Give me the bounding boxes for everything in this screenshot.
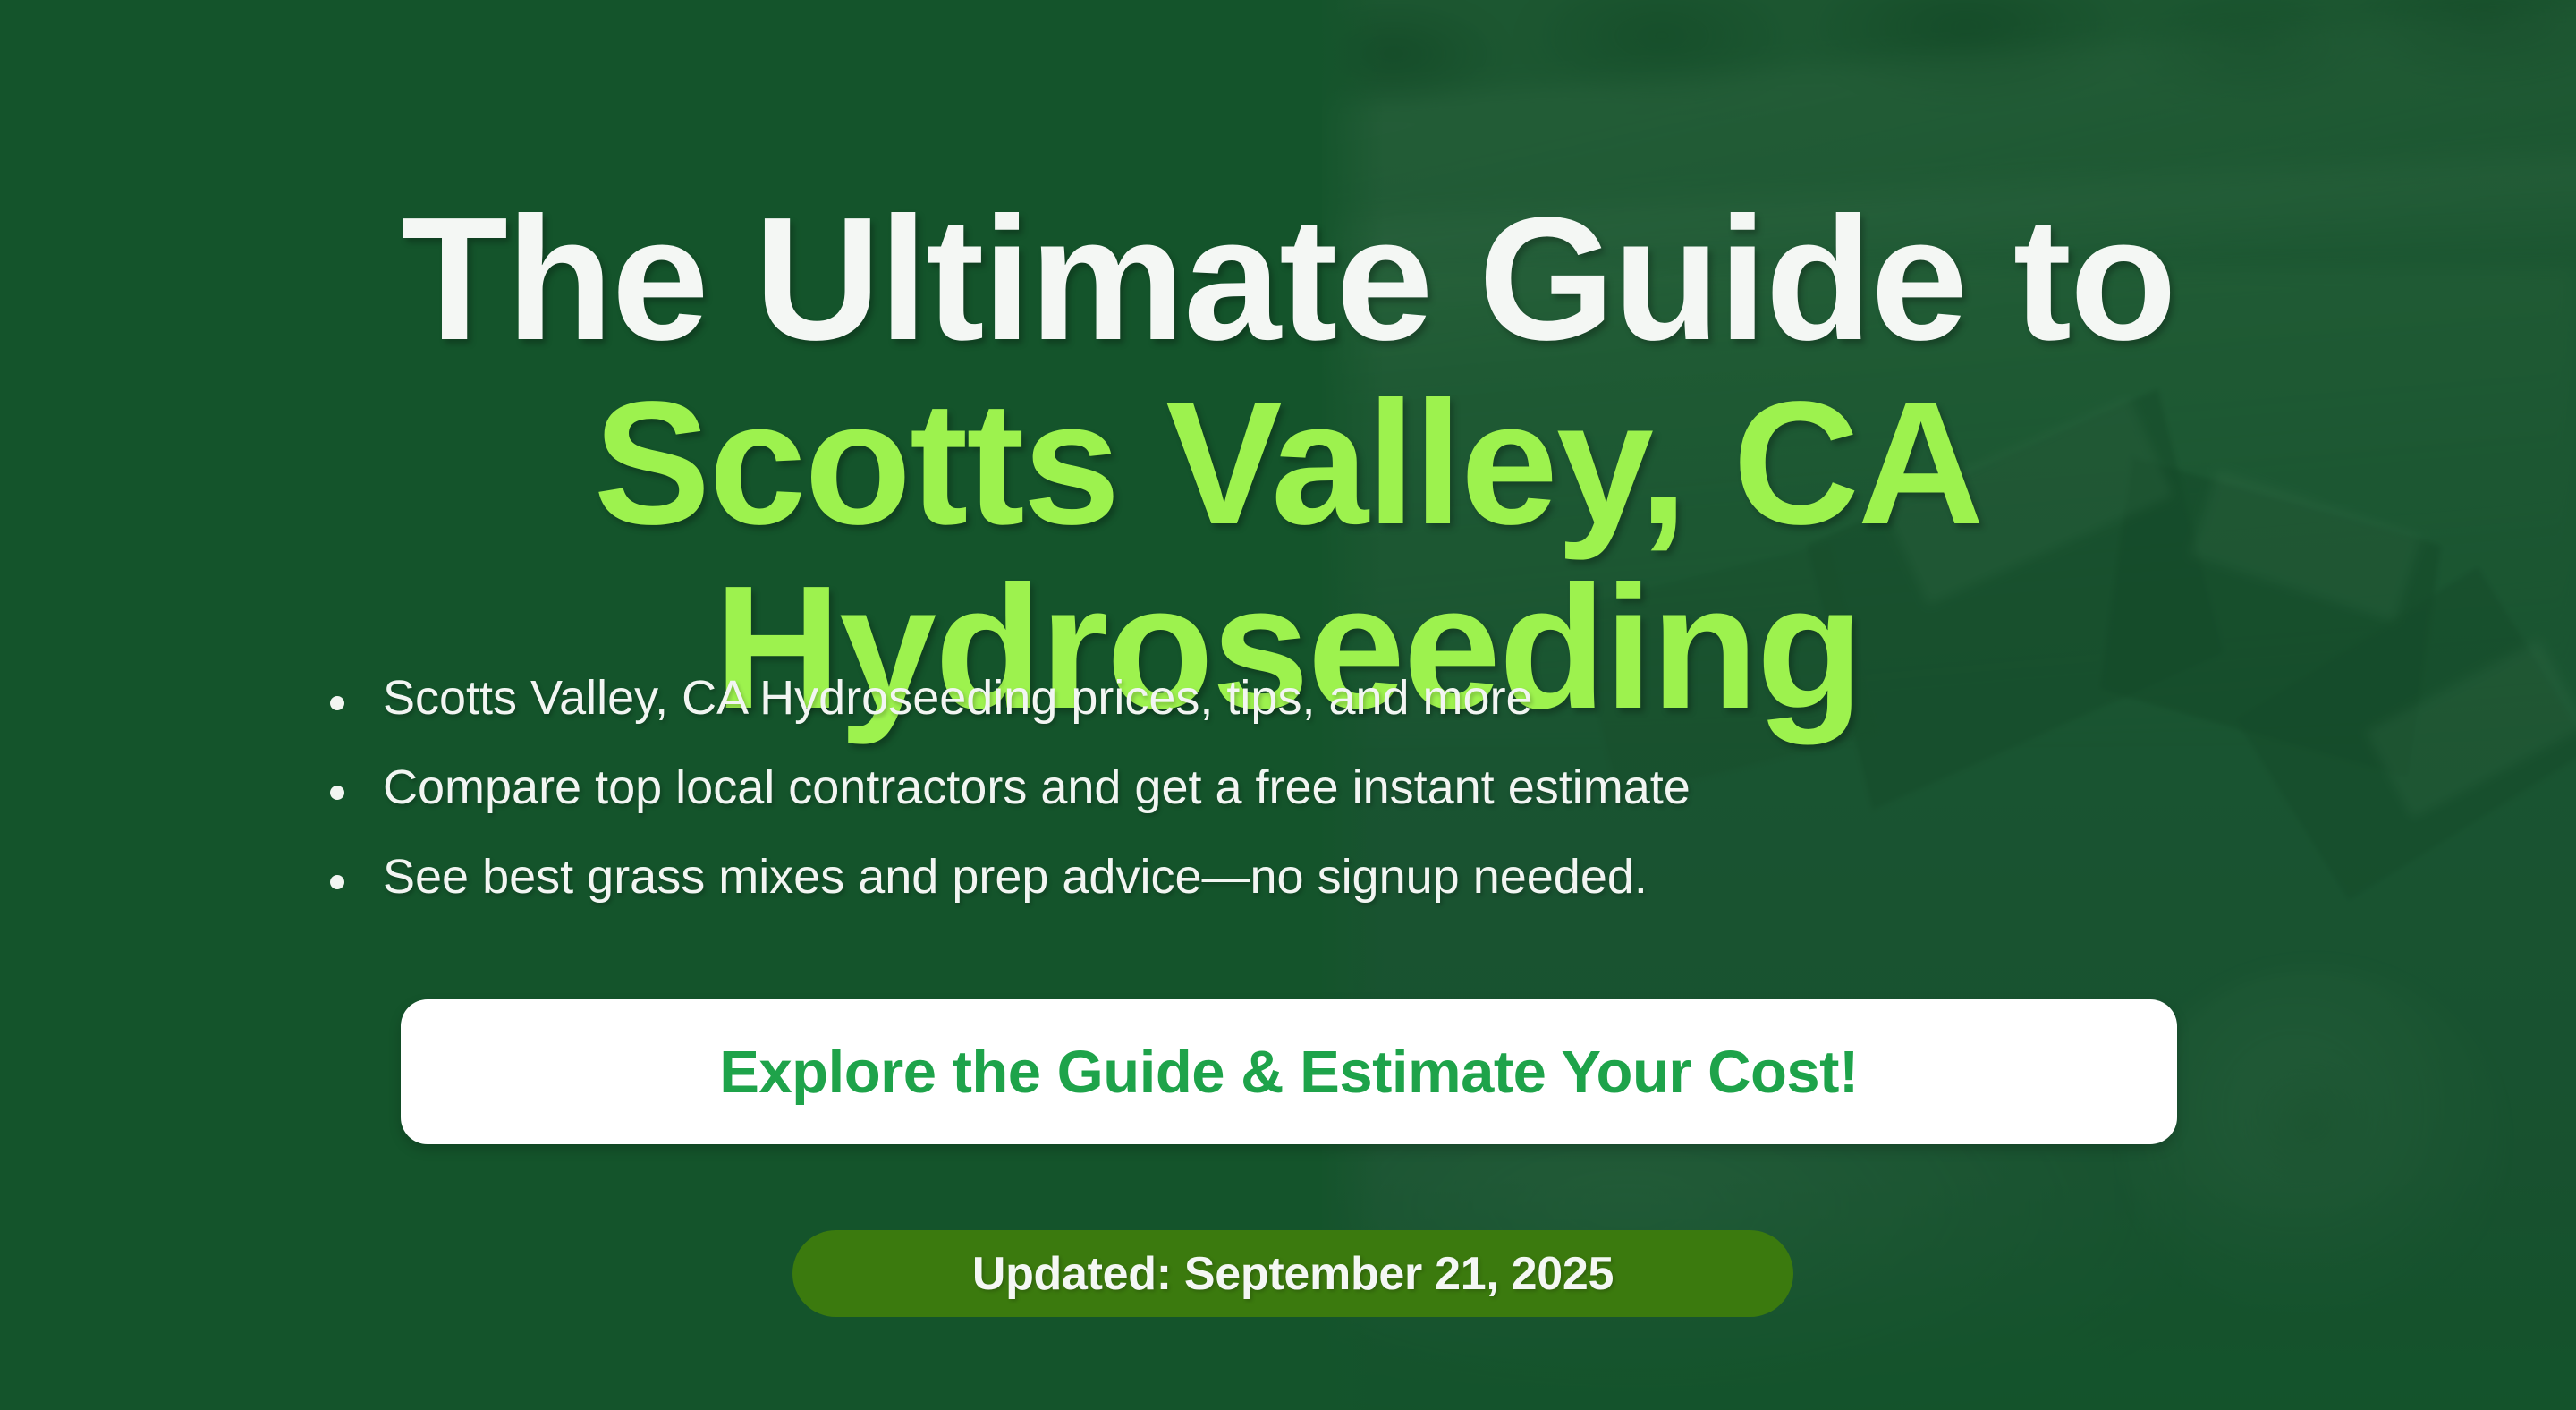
list-item: Scotts Valley, CA Hydroseeding prices, t… [313,673,1690,724]
hero-banner: The Ultimate Guide to Scotts Valley, CA … [0,0,2576,1410]
banner-content: The Ultimate Guide to Scotts Valley, CA … [0,0,2576,1410]
list-item: See best grass mixes and prep advice—no … [313,852,1690,903]
status-badge: Updated: September 21, 2025 [792,1230,1793,1317]
updated-date-label: Updated: September 21, 2025 [972,1247,1614,1301]
explore-guide-cta-button[interactable]: Explore the Guide & Estimate Your Cost! [401,999,2177,1144]
list-item: Compare top local contractors and get a … [313,762,1690,813]
headline-line-1: The Ultimate Guide to [0,187,2576,371]
feature-bullet-list: Scotts Valley, CA Hydroseeding prices, t… [313,673,1690,904]
page-title: The Ultimate Guide to Scotts Valley, CA … [0,187,2576,739]
headline-line-2: Scotts Valley, CA [0,371,2576,556]
